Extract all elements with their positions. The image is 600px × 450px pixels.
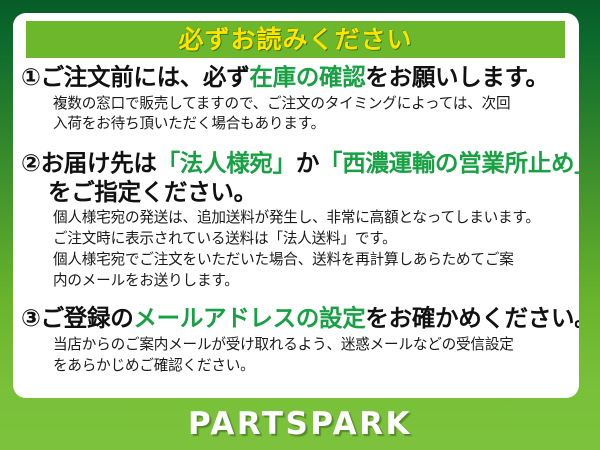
item-spacer: [13, 135, 579, 149]
notice-item-body-line: 個人様宅宛の発送は、追加送料が発生し、非常に高額となってしまいます。: [53, 208, 573, 229]
heading-text: か: [296, 149, 319, 177]
notice-item-heading: ③ご登録のメールアドレスの設定をお確かめください。: [21, 304, 573, 333]
notice-item-body-line: をあらかじめご確認ください。: [53, 356, 573, 377]
notice-item-body-line: 入荷をお待ち頂いただく場合もあります。: [53, 114, 573, 135]
brand-name: PARTSPARK: [188, 409, 412, 440]
notice-item: ③ご登録のメールアドレスの設定をお確かめください。当店からのご案内メールが受け取…: [13, 304, 579, 376]
notice-item-heading-line2: をご指定ください。: [21, 178, 573, 207]
notice-item-marker: ①: [21, 63, 41, 91]
notice-item-body-line: 複数の窓口で販売してますので、ご注文のタイミングによっては、次回: [53, 94, 573, 115]
content-panel: 必ずお読みください ①ご注文前には、必ず在庫の確認をお願いします。複数の窓口で販…: [13, 13, 579, 398]
notice-item-body-line: 個人様宅宛でご注文をいただいた場合、送料を再計算しあらためてご案: [53, 250, 573, 271]
notice-frame: 必ずお読みください ①ご注文前には、必ず在庫の確認をお願いします。複数の窓口で販…: [0, 0, 600, 450]
heading-highlight: 在庫の確認: [249, 63, 365, 91]
heading-highlight: 「法人様宛」: [157, 149, 296, 177]
title-banner: 必ずお読みください: [26, 21, 565, 58]
notice-item: ①ご注文前には、必ず在庫の確認をお願いします。複数の窓口で販売してますので、ご注…: [13, 63, 579, 135]
heading-text: をお確かめください。: [365, 304, 579, 332]
notice-item-body-line: ご注文時に表示されている送料は「法人送料」です。: [53, 229, 573, 250]
heading-text: をお願いします。: [365, 63, 548, 91]
heading-highlight: メールアドレスの設定: [133, 304, 365, 332]
notice-item: ②お届け先は「法人様宛」か「西濃運輸の営業所止め」をご指定ください。個人様宅宛の…: [13, 149, 579, 291]
notice-item-marker: ②: [21, 149, 41, 177]
heading-text: ご登録の: [41, 304, 134, 332]
item-spacer: [13, 291, 579, 304]
heading-highlight: 「西濃運輸の営業所止め」: [319, 149, 579, 177]
heading-text: お届け先は: [41, 149, 157, 177]
notice-item-marker: ③: [21, 304, 41, 332]
heading-text: ご注文前には、必ず: [41, 63, 250, 91]
notice-item-body-line: 当店からのご案内メールが受け取れるよう、迷惑メールなどの受信設定: [53, 335, 573, 356]
notice-list: ①ご注文前には、必ず在庫の確認をお願いします。複数の窓口で販売してますので、ご注…: [13, 63, 579, 376]
notice-item-heading: ②お届け先は「法人様宛」か「西濃運輸の営業所止め」: [21, 149, 573, 178]
banner-title: 必ずお読みください: [178, 27, 412, 52]
brand-footer: PARTSPARK: [0, 398, 600, 450]
notice-item-body-line: 内のメールをお送りします。: [53, 271, 573, 292]
notice-item-heading: ①ご注文前には、必ず在庫の確認をお願いします。: [21, 63, 573, 92]
